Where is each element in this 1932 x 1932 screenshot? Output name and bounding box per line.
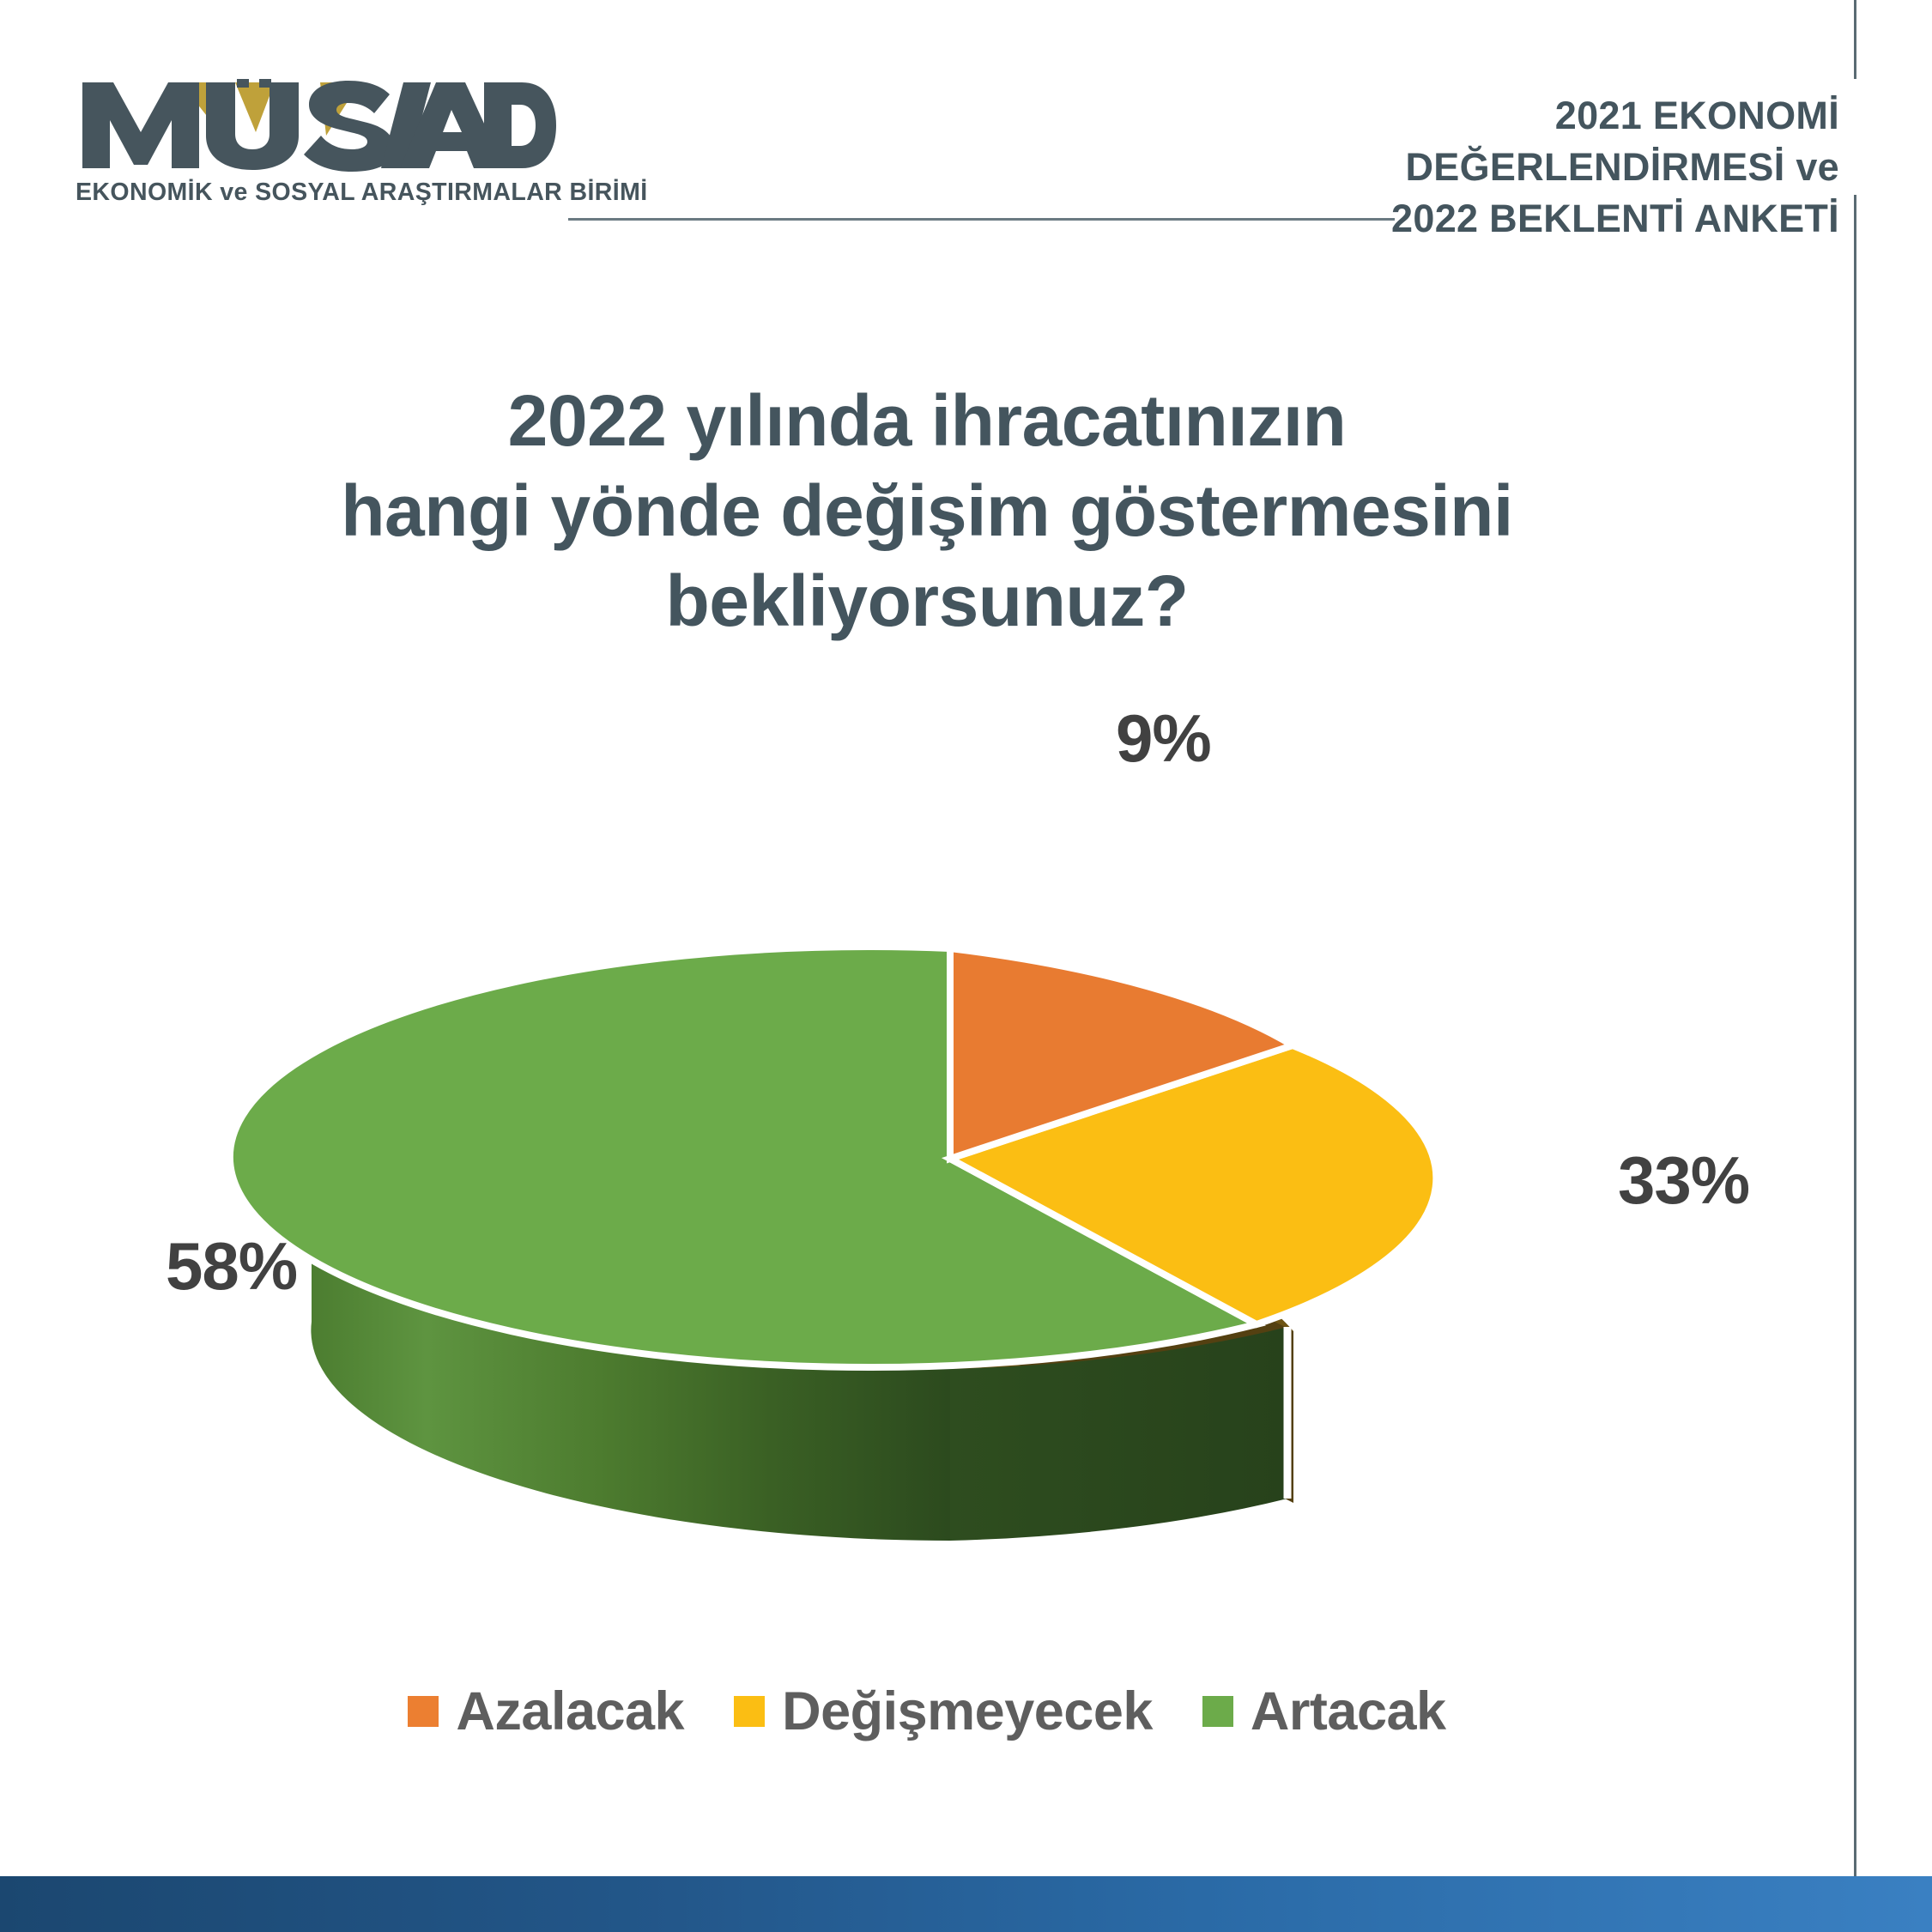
pie-chart-graphic — [0, 704, 1854, 1631]
question-line-1: 2022 yılında ihracatınızın — [0, 376, 1854, 466]
right-edge-rule-bottom — [1854, 195, 1856, 1877]
report-title-line-2: DEĞERLENDİRMESİ ve — [1391, 142, 1839, 193]
pie-chart: 9% 33% 58% — [0, 704, 1854, 1631]
legend-label: Artacak — [1251, 1681, 1446, 1742]
brand-logo: EKONOMİK ve SOSYAL ARAŞTIRMALAR BİRİMİ — [76, 79, 608, 207]
legend-swatch-icon — [1202, 1696, 1233, 1727]
question-line-2: hangi yönde değişim göstermesini — [0, 466, 1854, 556]
right-edge-rule-top — [1854, 0, 1856, 79]
legend-swatch-icon — [408, 1696, 439, 1727]
legend-label: Azalacak — [456, 1681, 684, 1742]
legend-swatch-icon — [734, 1696, 765, 1727]
legend-item-azalacak[interactable]: Azalacak — [408, 1681, 684, 1742]
musiad-wordmark-icon — [76, 79, 556, 172]
legend-item-artacak[interactable]: Artacak — [1202, 1681, 1446, 1742]
report-title-line-3: 2022 BEKLENTİ ANKETİ — [1391, 193, 1839, 245]
report-title-line-1: 2021 EKONOMİ — [1391, 90, 1839, 142]
question-heading: 2022 yılında ihracatınızın hangi yönde d… — [0, 376, 1854, 646]
legend-item-degismeyecek[interactable]: Değişmeyecek — [734, 1681, 1153, 1742]
question-line-3: bekliyorsunuz? — [0, 556, 1854, 646]
brand-subtitle: EKONOMİK ve SOSYAL ARAŞTIRMALAR BİRİMİ — [76, 179, 608, 207]
page-header: EKONOMİK ve SOSYAL ARAŞTIRMALAR BİRİMİ 2… — [0, 0, 1932, 257]
header-divider-rule — [568, 218, 1395, 221]
slice-label-azalacak: 9% — [1116, 700, 1211, 778]
footer-bar — [0, 1876, 1932, 1932]
legend-label: Değişmeyecek — [782, 1681, 1153, 1742]
slice-label-degismeyecek: 33% — [1618, 1142, 1749, 1220]
slice-label-artacak: 58% — [166, 1227, 297, 1305]
report-title: 2021 EKONOMİ DEĞERLENDİRMESİ ve 2022 BEK… — [1391, 90, 1839, 245]
chart-legend: Azalacak Değişmeyecek Artacak — [0, 1681, 1854, 1742]
